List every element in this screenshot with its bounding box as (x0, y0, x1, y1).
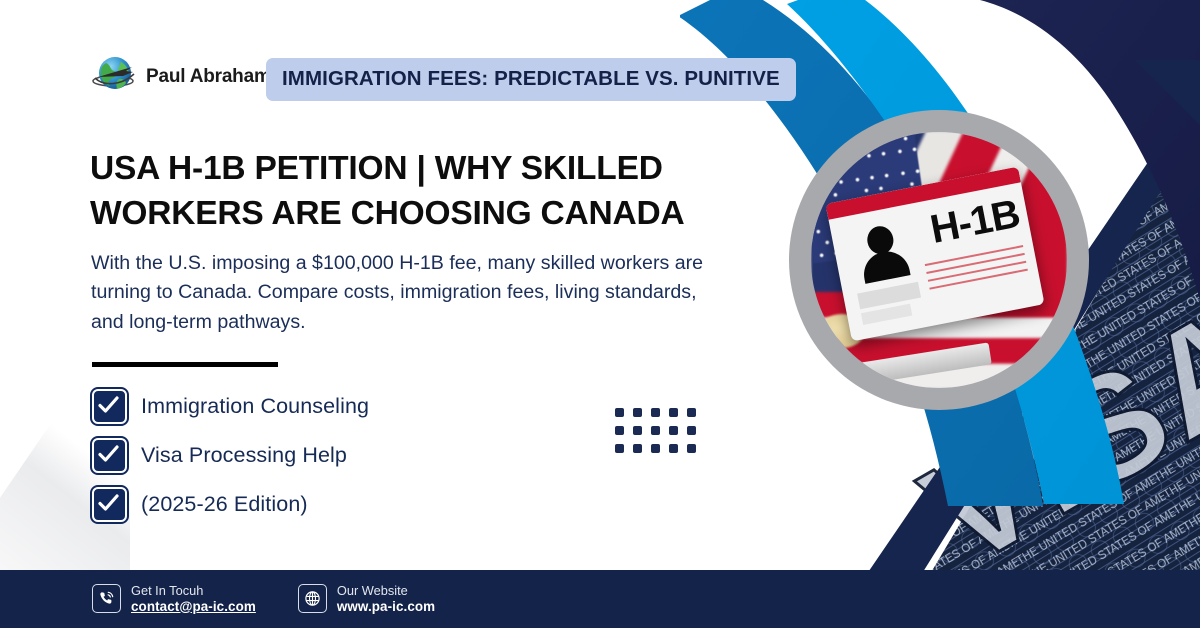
globe-airplane-icon (92, 52, 139, 99)
globe-icon (298, 584, 327, 613)
footer-contact-text: Get In Tocuh contact@pa-ic.com (131, 583, 256, 614)
footer-website-item[interactable]: Our Website www.pa-ic.com (298, 583, 435, 614)
id-card-label: H-1B (927, 194, 1022, 250)
checkbox-checked-icon (92, 389, 127, 424)
checklist-label: Immigration Counseling (141, 394, 369, 419)
footer-website-title: Our Website (337, 583, 435, 598)
divider-rule (92, 362, 278, 367)
footer-website-text: Our Website www.pa-ic.com (337, 583, 435, 614)
footer-bar: Get In Tocuh contact@pa-ic.com Our Websi… (0, 570, 1200, 628)
footer-contact-title: Get In Tocuh (131, 583, 256, 598)
feature-checklist: Immigration Counseling Visa Processing H… (92, 382, 369, 529)
checkbox-checked-icon (92, 487, 127, 522)
promo-banner: THE UNITED STATES OF AMERICA (0, 0, 1200, 628)
headline: USA H-1B PETITION | WHY SKILLED WORKERS … (90, 147, 710, 236)
h1b-photo-circle: H-1B (789, 110, 1089, 410)
checklist-label: Visa Processing Help (141, 443, 347, 468)
footer-website-url[interactable]: www.pa-ic.com (337, 599, 435, 615)
dot-grid-decoration (612, 405, 698, 455)
list-item: (2025-26 Edition) (92, 480, 369, 529)
id-card-lines (925, 245, 1029, 295)
list-item: Visa Processing Help (92, 431, 369, 480)
footer-contact-email[interactable]: contact@pa-ic.com (131, 599, 256, 615)
list-item: Immigration Counseling (92, 382, 369, 431)
footer-contact-group: Get In Tocuh contact@pa-ic.com Our Websi… (92, 570, 435, 628)
id-card-portrait (846, 213, 919, 286)
phone-icon (92, 584, 121, 613)
checkbox-checked-icon (92, 438, 127, 473)
footer-contact-item[interactable]: Get In Tocuh contact@pa-ic.com (92, 583, 256, 614)
brand-name: Paul Abraham (146, 66, 271, 87)
description-text: With the U.S. imposing a $100,000 H-1B f… (91, 249, 709, 338)
id-card-block-1 (857, 282, 921, 310)
checklist-label: (2025-26 Edition) (141, 492, 308, 517)
h1b-photo: H-1B (811, 132, 1067, 388)
topic-badge: IMMIGRATION FEES: PREDICTABLE VS. PUNITI… (266, 58, 796, 101)
